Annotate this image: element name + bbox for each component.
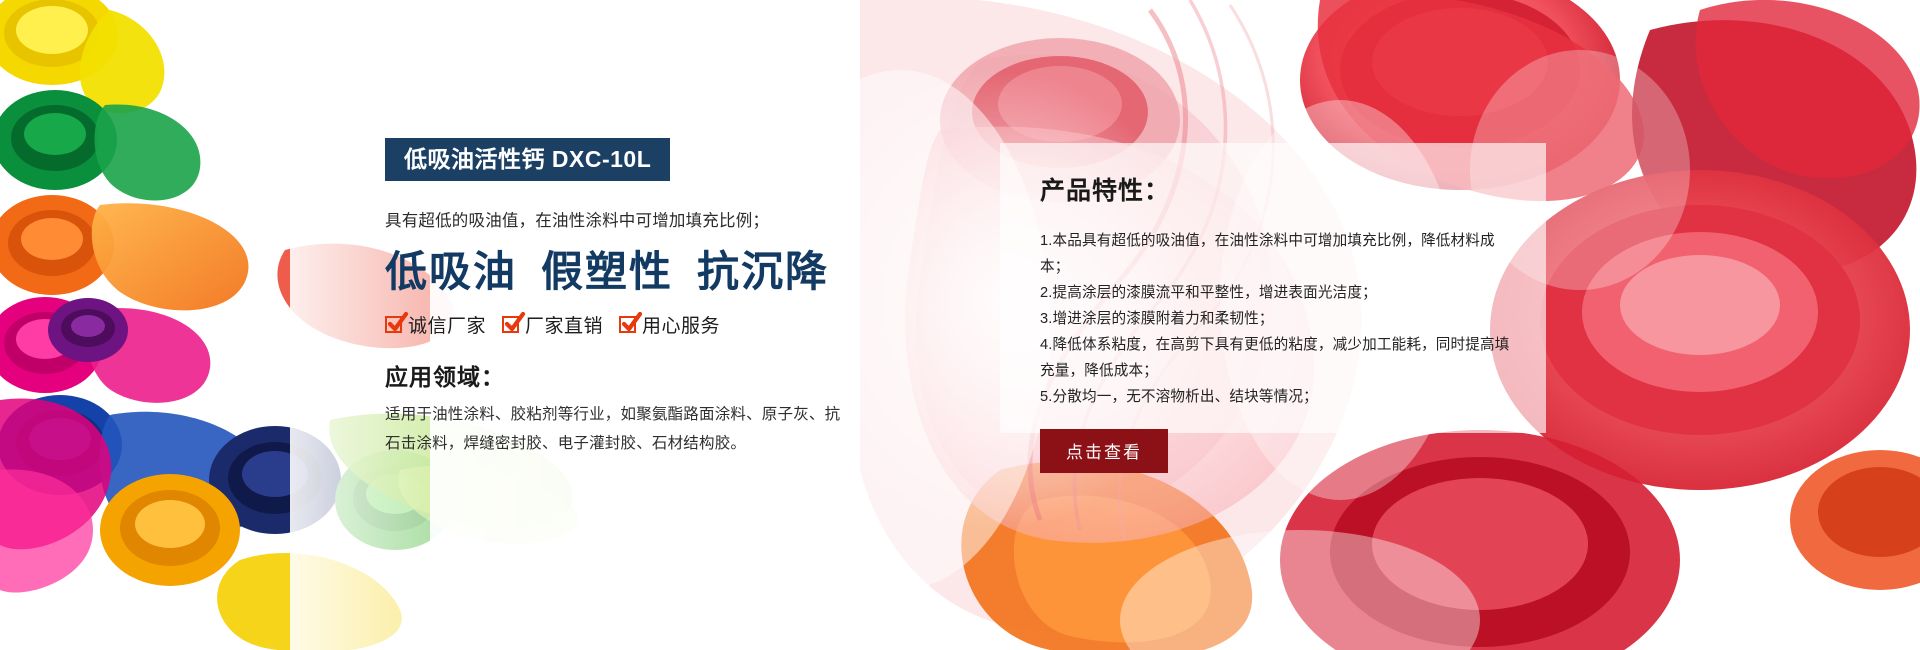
application-text: 适用于油性涂料、胶粘剂等行业，如聚氨酯路面涂料、原子灰、抗石击涂料，焊缝密封胶、… [385, 401, 845, 458]
trust-feature-1-label: 诚信厂家 [408, 311, 486, 338]
check-icon [619, 316, 636, 333]
product-subtitle: 具有超低的吸油值，在油性涂料中可增加填充比例； [385, 207, 855, 231]
list-item: 2.提高涂层的漆膜流平和平整性，增进表面光洁度； [1040, 281, 1512, 307]
application-heading: 应用领域： [385, 358, 855, 392]
trust-feature-2: 厂家直销 [502, 311, 603, 338]
list-item: 3.增进涂层的漆膜附着力和柔韧性； [1040, 307, 1512, 333]
check-icon [502, 316, 519, 333]
product-title-badge: 低吸油活性钙 DXC-10L [385, 138, 670, 181]
headline-part-3: 抗沉降 [697, 248, 829, 295]
trust-feature-2-label: 厂家直销 [525, 311, 603, 338]
product-banner: 低吸油活性钙 DXC-10L 具有超低的吸油值，在油性涂料中可增加填充比例； 低… [0, 0, 1920, 650]
panel-feature-list: 1.本品具有超低的吸油值，在油性涂料中可增加填充比例，降低材料成本； 2.提高涂… [1040, 229, 1512, 411]
list-item: 5.分散均一，无不溶物析出、结块等情况； [1040, 385, 1512, 411]
headline-part-2: 假塑性 [541, 248, 673, 295]
trust-feature-3-label: 用心服务 [642, 311, 720, 338]
background-artwork [0, 0, 1920, 650]
check-icon [385, 316, 402, 333]
product-headline: 低吸油假塑性抗沉降 [385, 248, 855, 295]
product-features-panel: 产品特性： 1.本品具有超低的吸油值，在油性涂料中可增加填充比例，降低材料成本；… [1000, 143, 1546, 433]
list-item: 1.本品具有超低的吸油值，在油性涂料中可增加填充比例，降低材料成本； [1040, 229, 1512, 281]
left-content-block: 低吸油活性钙 DXC-10L 具有超低的吸油值，在油性涂料中可增加填充比例； 低… [385, 138, 855, 459]
list-item: 4.降低体系粘度，在高剪下具有更低的粘度，减少加工能耗，同时提高填充量，降低成本… [1040, 333, 1512, 385]
view-details-button[interactable]: 点击查看 [1040, 429, 1168, 473]
headline-part-1: 低吸油 [385, 248, 517, 295]
trust-feature-row: 诚信厂家 厂家直销 用心服务 [385, 311, 855, 338]
panel-title: 产品特性： [1040, 171, 1512, 207]
trust-feature-1: 诚信厂家 [385, 311, 486, 338]
trust-feature-3: 用心服务 [619, 311, 720, 338]
